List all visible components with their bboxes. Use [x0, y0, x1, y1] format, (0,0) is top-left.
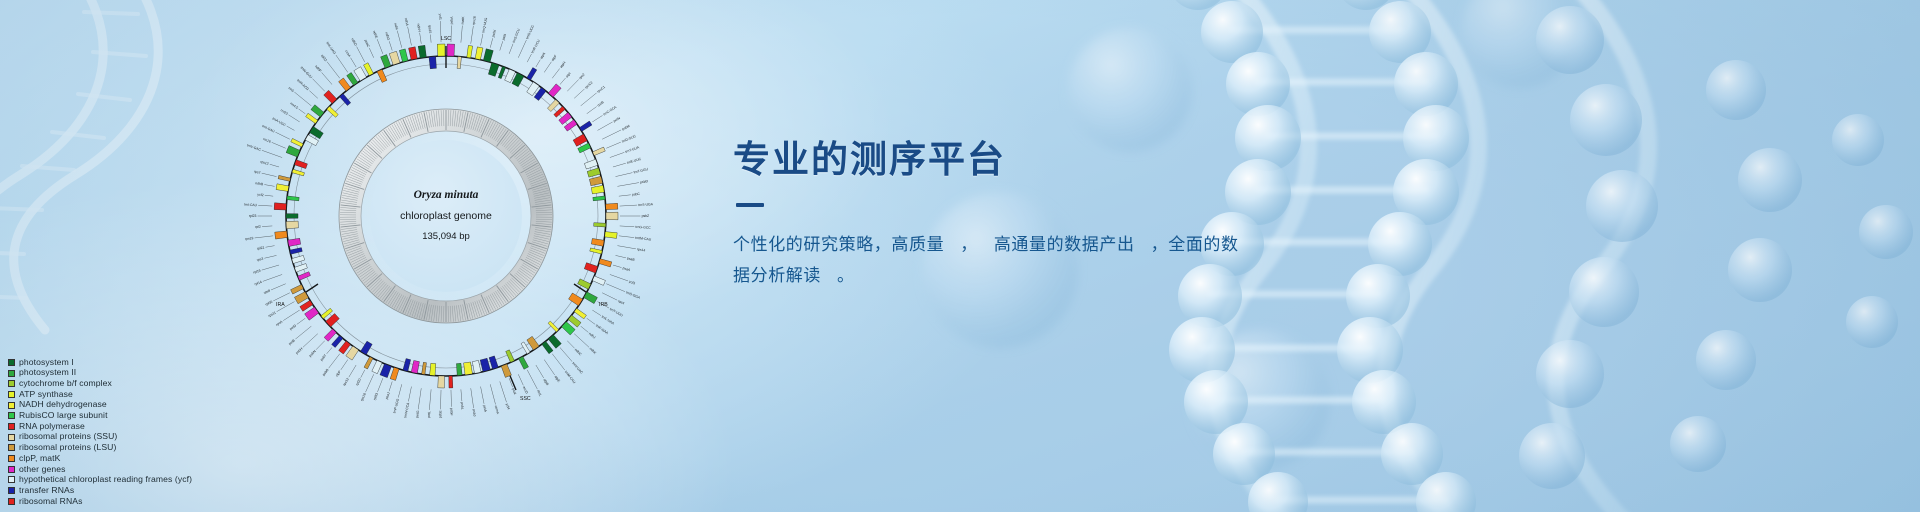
genome-gene-block: [449, 376, 453, 388]
genome-gene-block: [475, 47, 483, 60]
legend-item: transfer RNAs: [8, 485, 338, 496]
genome-gene-block: [275, 231, 288, 239]
genome-gene-label: petN: [613, 116, 622, 123]
svg-text:IRB: IRB: [599, 302, 608, 308]
legend-item-label: RubisCO large subunit: [19, 411, 108, 420]
genome-gene-label: trnT-UGU: [609, 307, 624, 318]
legend-item-label: ribosomal RNAs: [19, 497, 82, 506]
genome-gene-label: rpl32: [320, 54, 328, 63]
genome-gene-block: [403, 359, 411, 372]
genome-gene-label: ndhG: [384, 32, 390, 41]
genome-gene-block: [418, 45, 426, 58]
legend-item-label: other genes: [19, 465, 66, 474]
legend-color-swatch: [8, 423, 15, 430]
genome-gene-block: [276, 184, 289, 192]
genome-gene-label: rps3: [256, 257, 263, 262]
subtitle-part-2: 高通量的数据产出: [994, 235, 1135, 254]
genome-gene-label: trnS-UGA: [638, 202, 654, 207]
genome-gene-block: [593, 147, 606, 156]
genome-gene-block: [290, 248, 303, 255]
legend-item-label: transfer RNAs: [19, 486, 74, 495]
genome-gene-block: [498, 66, 505, 78]
subtitle-comma-1: ，: [960, 235, 978, 254]
genome-gene-block: [292, 169, 304, 176]
banner-copy: 专业的测序平台 个性化的研究策略，高质量，高通量的数据产出，全面的数据分析解读。: [733, 138, 1373, 291]
genome-gene-block: [606, 203, 618, 209]
genome-gene-block: [587, 168, 600, 177]
genome-gene-block: [584, 263, 598, 273]
legend-item: photosystem I: [8, 357, 338, 368]
genome-gene-label: rps7: [254, 170, 261, 175]
genome-gene-block: [332, 335, 343, 347]
genome-gene-label: psaB: [627, 256, 636, 262]
genome-gene-label: psbI: [501, 33, 507, 40]
genome-gene-label: ycf4: [505, 403, 511, 410]
genome-gene-block: [294, 264, 307, 273]
genome-gene-label: rps8: [263, 289, 271, 295]
genome-gene-label: rpl23: [249, 214, 257, 218]
genome-gene-block: [591, 185, 604, 194]
svg-text:LSC: LSC: [441, 36, 451, 42]
genome-gene-label: rpl36: [265, 300, 274, 307]
genome-gene-block: [286, 146, 300, 157]
legend-item: ribosomal RNAs: [8, 496, 338, 507]
genome-gene-label: rpoC2: [584, 80, 594, 89]
genome-gene-label: atpH: [559, 60, 567, 69]
genome-gene-block: [298, 272, 311, 281]
genome-gene-block: [291, 285, 304, 295]
genome-gene-label: atpE: [554, 375, 562, 384]
genome-gene-label: rrn5: [288, 86, 295, 93]
genome-map-title: chloroplast genome: [400, 210, 492, 222]
legend-color-swatch: [8, 412, 15, 419]
genome-gene-label: matK: [461, 16, 466, 25]
legend-item: cytochrome b/f complex: [8, 378, 338, 389]
genome-gene-block: [390, 367, 399, 380]
genome-gene-label: psaA: [622, 266, 631, 272]
genome-gene-label: trnW-CCA: [403, 402, 410, 419]
legend-color-swatch: [8, 434, 15, 441]
genome-gene-block: [547, 99, 559, 111]
genome-gene-block: [339, 94, 350, 106]
genome-gene-label: rps4: [617, 299, 625, 306]
genome-gene-label: ndhB: [255, 181, 264, 186]
genome-gene-block: [605, 232, 618, 239]
subtitle-part-1: 个性化的研究策略，高质量: [733, 235, 944, 254]
genome-gene-label: rps12: [260, 160, 269, 166]
genome-gene-label: rpl20: [355, 378, 362, 387]
genome-gene-label: trnA-UGC: [272, 116, 287, 127]
legend-color-swatch: [8, 476, 15, 483]
legend-color-swatch: [8, 498, 15, 505]
genome-gene-label: trnC-GCA: [603, 105, 618, 117]
genome-gene-block: [286, 221, 298, 229]
genome-gene-label: petD: [289, 323, 298, 331]
legend-item-label: cytochrome b/f complex: [19, 379, 112, 388]
genome-gene-block: [599, 259, 612, 267]
genome-gene-block: [311, 105, 324, 117]
genome-gene-block: [422, 362, 427, 374]
genome-gene-label: ndhA: [404, 17, 410, 26]
genome-gene-block: [288, 238, 301, 246]
legend-item: ATP synthase: [8, 389, 338, 400]
legend-color-swatch: [8, 359, 15, 366]
svg-text:IRA: IRA: [276, 302, 285, 308]
genome-gene-block: [574, 308, 586, 319]
genome-gene-label: rpl33: [373, 392, 380, 401]
genome-gene-block: [287, 196, 299, 201]
genome-legend: photosystem Iphotosystem IIcytochrome b/…: [8, 357, 338, 507]
genome-gene-block: [584, 292, 598, 304]
legend-item: ribosomal proteins (LSU): [8, 443, 338, 454]
genome-gene-label: psaI: [511, 388, 517, 395]
genome-gene-label: trnL-UAG: [325, 41, 337, 55]
genome-gene-label: trnM-CAU: [564, 370, 577, 385]
genome-gene-label: psbJ: [472, 409, 477, 417]
subtitle-comma-2: ，: [1151, 235, 1169, 254]
legend-item-label: photosystem I: [19, 358, 74, 367]
genome-gene-label: psbD: [640, 179, 649, 184]
legend-color-swatch: [8, 402, 15, 409]
genome-gene-label: trnF-GAA: [595, 324, 610, 336]
genome-gene-block: [409, 47, 418, 60]
genome-gene-label: trnG-GCC: [635, 225, 651, 230]
genome-gene-block: [294, 160, 307, 169]
legend-color-swatch: [8, 455, 15, 462]
genome-gene-label: trnR-UCU: [530, 38, 541, 54]
genome-gene-block: [457, 56, 461, 68]
genome-gene-label: psbE: [438, 410, 442, 419]
legend-item: clpP, matK: [8, 453, 338, 464]
banner-headline: 专业的测序平台: [733, 138, 1373, 182]
genome-gene-label: trnQ-UUG: [481, 17, 488, 33]
genome-gene-label: trnI-CAU: [244, 203, 258, 208]
genome-gene-label: psbF: [449, 408, 453, 416]
genome-gene-label: trnP-UGG: [392, 398, 400, 414]
genome-gene-label: psbK: [491, 28, 497, 37]
genome-gene-block: [292, 255, 305, 263]
genome-gene-block: [488, 63, 499, 77]
legend-item: ribosomal proteins (SSU): [8, 432, 338, 443]
genome-gene-block: [429, 56, 436, 69]
genome-gene-label: rps14: [637, 247, 646, 252]
genome-gene-label: psbC: [632, 192, 641, 197]
genome-gene-block: [306, 113, 318, 123]
genome-gene-label: atpF: [551, 54, 558, 62]
genome-gene-label: atpB: [543, 378, 550, 387]
genome-gene-label: trnL-UAA: [601, 315, 616, 326]
genome-gene-label: rps15: [427, 25, 432, 34]
genome-gene-label: psbL: [460, 402, 465, 410]
svg-text:SSC: SSC: [520, 396, 531, 402]
genome-gene-block: [584, 159, 597, 169]
genome-gene-label: trnE-UUC: [626, 157, 642, 165]
genome-gene-label: ycf3: [628, 280, 635, 286]
genome-gene-block: [327, 106, 339, 117]
genome-gene-block: [437, 44, 445, 56]
genome-gene-label: rrn16: [263, 137, 272, 144]
genome-gene-label: trnS-GCU: [512, 28, 521, 44]
genome-gene-label: rpl2: [255, 225, 261, 229]
legend-item: RubisCO large subunit: [8, 410, 338, 421]
genome-gene-label: trnI-GAU: [262, 124, 276, 134]
genome-gene-block: [579, 121, 592, 131]
legend-color-swatch: [8, 487, 15, 494]
genome-gene-label: atpA: [539, 51, 546, 60]
genome-gene-label: ndhD: [350, 37, 358, 47]
genome-gene-block: [274, 203, 286, 210]
genome-gene-label: rps11: [268, 311, 277, 319]
legend-color-swatch: [8, 391, 15, 398]
genome-gene-label: ycf1: [438, 14, 442, 20]
genome-gene-label: trnN-GUU: [300, 66, 314, 80]
genome-organism-name: Oryza minuta: [414, 189, 479, 201]
genome-gene-block: [589, 176, 602, 185]
genome-gene-label: petB: [288, 338, 297, 346]
banner-subtitle: 个性化的研究策略，高质量，高通量的数据产出，全面的数据分析解读。: [733, 229, 1253, 291]
genome-gene-label: trnT-GGU: [633, 167, 649, 174]
genome-gene-block: [447, 44, 455, 56]
genome-gene-block: [464, 362, 473, 375]
genome-gene-block: [472, 360, 481, 373]
genome-gene-block: [554, 106, 565, 117]
genome-gene-label: rpl16: [253, 269, 261, 275]
legend-item-label: photosystem II: [19, 368, 76, 377]
genome-gene-block: [326, 313, 340, 326]
genome-gene-label: petA: [482, 405, 487, 413]
legend-item-label: hypothetical chloroplast reading frames …: [19, 475, 192, 484]
genome-gene-label: psbH: [295, 346, 304, 355]
genome-gene-label: ycf2: [257, 192, 264, 197]
genome-gene-label: rpoA: [275, 319, 284, 327]
legend-item: hypothetical chloroplast reading frames …: [8, 475, 338, 486]
legend-item-label: ribosomal proteins (LSU): [19, 443, 116, 452]
sequencing-platform-banner: psbAmatKrps16trnQ-UUGpsbKpsbItrnS-GCUtrn…: [0, 0, 1920, 512]
genome-gene-block: [467, 45, 473, 57]
genome-gene-label: trnY-GUA: [625, 145, 641, 154]
genome-gene-block: [364, 357, 373, 369]
genome-gene-label: petG: [415, 410, 420, 418]
genome-gene-block: [399, 49, 408, 62]
genome-gene-label: rbcL: [536, 389, 543, 397]
legend-color-swatch: [8, 370, 15, 377]
genome-gene-label: ndhE: [372, 30, 379, 40]
genome-gene-block: [506, 350, 515, 363]
genome-gene-label: ndhJ: [588, 332, 596, 340]
legend-item: NADH dehydrogenase: [8, 400, 338, 411]
legend-color-swatch: [8, 466, 15, 473]
genome-gene-label: rps2: [578, 72, 586, 80]
subtitle-period: 。: [837, 266, 855, 285]
legend-color-swatch: [8, 444, 15, 451]
genome-gene-block: [489, 356, 498, 369]
genome-gene-block: [286, 214, 298, 219]
genome-gene-block: [278, 175, 290, 181]
genome-gene-block: [606, 212, 618, 220]
legend-item: RNA polymerase: [8, 421, 338, 432]
genome-gene-block: [438, 376, 445, 388]
genome-gene-label: psbM: [621, 124, 630, 131]
genome-gene-label: psbA: [450, 16, 454, 25]
legend-item-label: clpP, matK: [19, 454, 60, 463]
genome-gene-label: psbZ: [642, 214, 650, 218]
genome-gene-label: ndhC: [574, 348, 583, 357]
genome-gene-label: rpoB: [597, 100, 606, 108]
legend-item-label: ATP synthase: [19, 390, 73, 399]
genome-gene-label: ndhF: [314, 64, 322, 72]
genome-gene-label: psaC: [364, 39, 371, 48]
genome-gene-block: [389, 51, 400, 65]
genome-gene-block: [519, 356, 529, 369]
genome-gene-block: [480, 358, 490, 371]
genome-gene-label: rpl14: [254, 280, 263, 286]
genome-gene-label: trnR-ACG: [296, 78, 310, 91]
genome-gene-label: trnV-GAC: [246, 143, 262, 152]
genome-gene-label: ccsA: [344, 49, 352, 58]
genome-gene-block: [592, 276, 605, 285]
genome-gene-label: ndhK: [589, 347, 598, 356]
genome-gene-label: trnD-GUC: [621, 134, 637, 144]
genome-gene-label: cemA: [494, 405, 500, 415]
genome-gene-label: psaJ: [385, 391, 391, 399]
genome-gene-block: [430, 363, 436, 375]
genome-gene-label: trnS-GGA: [625, 290, 641, 300]
genome-gene-block: [548, 321, 559, 332]
genome-gene-block: [339, 78, 351, 91]
legend-color-swatch: [8, 380, 15, 387]
genome-gene-block: [377, 69, 387, 82]
headline-underline-rule: [736, 203, 764, 207]
genome-gene-label: rrn23: [280, 108, 289, 116]
genome-gene-block: [364, 63, 374, 76]
genome-gene-block: [594, 223, 606, 227]
genome-gene-block: [380, 364, 391, 378]
legend-item-label: NADH dehydrogenase: [19, 400, 107, 409]
genome-gene-block: [324, 329, 336, 341]
genome-gene-label: ndhH: [416, 23, 421, 32]
legend-item-label: RNA polymerase: [19, 422, 85, 431]
genome-gene-block: [590, 248, 602, 254]
genome-gene-label: rpl22: [257, 246, 265, 251]
genome-gene-label: trnG-UCC: [525, 24, 535, 40]
legend-item: photosystem II: [8, 368, 338, 379]
legend-item-label: ribosomal proteins (SSU): [19, 432, 117, 441]
genome-size-label: 135,094 bp: [422, 231, 470, 242]
genome-gene-label: ndhI: [393, 23, 399, 30]
genome-gene-block: [456, 363, 462, 375]
genome-gene-label: rps12: [342, 377, 350, 386]
genome-gene-block: [483, 49, 493, 62]
genome-gene-block: [591, 238, 604, 246]
genome-gene-label: petL: [427, 411, 432, 418]
genome-gene-block: [381, 55, 391, 68]
genome-gene-block: [411, 360, 419, 373]
genome-gene-label: accD: [522, 386, 529, 395]
genome-gene-block: [291, 138, 303, 147]
genome-gene-label: atpI: [565, 72, 572, 79]
genome-gene-block: [372, 360, 382, 373]
genome-gene-label: trnfM-CAU: [635, 236, 652, 242]
genome-gene-block: [593, 196, 605, 201]
genome-gene-block: [527, 68, 537, 81]
genome-gene-label: rps16: [472, 16, 477, 25]
genome-gene-label: rrn4.5: [289, 101, 299, 110]
genome-gene-label: trnV-UAC: [571, 361, 584, 375]
legend-item: other genes: [8, 464, 338, 475]
genome-gene-label: rpoC1: [596, 85, 606, 94]
genome-gene-label: rps19: [245, 236, 254, 241]
genome-gene-label: rps18: [360, 392, 367, 401]
genome-gene-block: [501, 364, 511, 377]
